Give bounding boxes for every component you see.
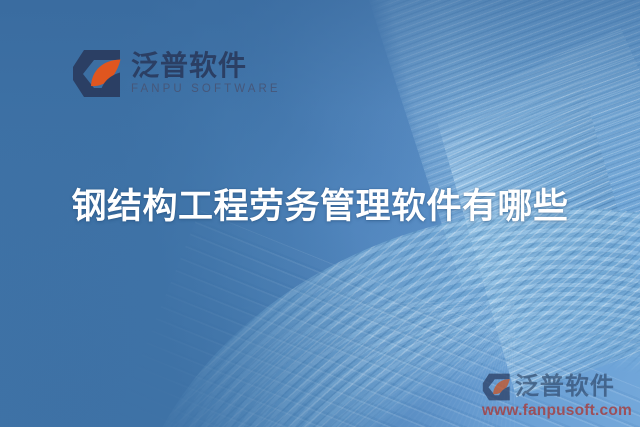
fanpu-shield-sail-logo-icon [482,373,511,401]
fanpu-shield-sail-logo-icon [72,49,122,98]
brand-name-cn: 泛普软件 [131,51,281,81]
page-title: 钢结构工程劳务管理软件有哪些 [0,186,640,229]
ray-fan-shape [215,300,515,427]
watermark-logo-row: 泛普软件 [482,373,632,401]
watermark-brand-name: 泛普软件 [515,375,615,399]
watermark-url: www.fanpusoft.com [482,403,632,419]
brand-text-block: 泛普软件 FANPU SOFTWARE [131,51,281,96]
brand-name-en: FANPU SOFTWARE [131,83,281,96]
watermark: 泛普软件 www.fanpusoft.com [482,373,632,419]
brand-logo: 泛普软件 FANPU SOFTWARE [72,49,281,98]
promo-banner: 泛普软件 FANPU SOFTWARE 钢结构工程劳务管理软件有哪些 泛普软件 … [0,0,640,427]
